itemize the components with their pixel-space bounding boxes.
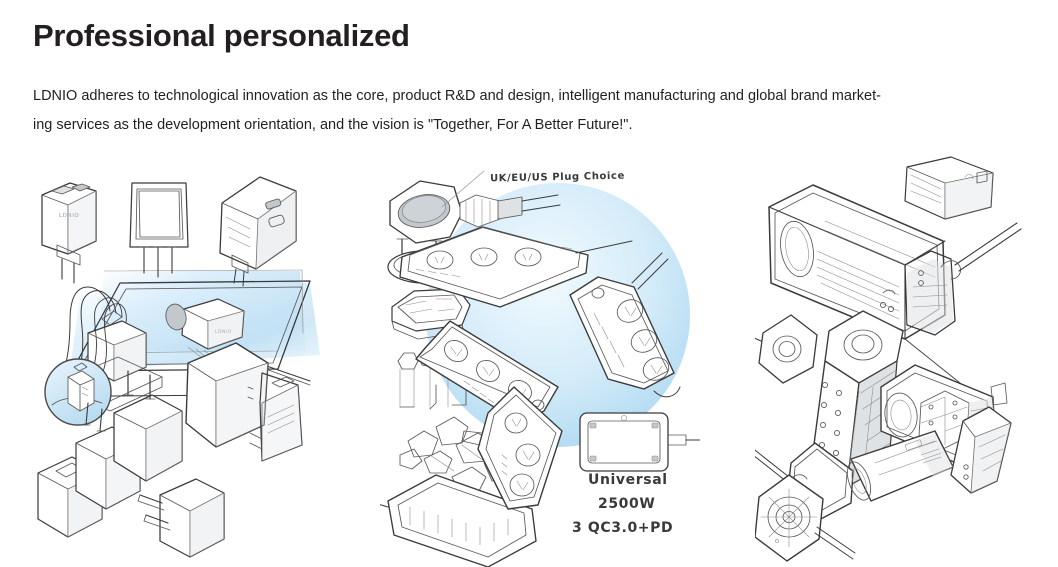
rounded-square-puck-left <box>755 315 817 383</box>
flat-panel-bottom-right <box>580 413 700 471</box>
brand-logo-text: LDNIO <box>59 213 79 219</box>
annotation-ports: 3 QC3.0+PD <box>572 520 673 536</box>
charger-angled-top-right <box>220 177 296 286</box>
wall-charger-concept-sketches: LDNIO <box>10 155 360 567</box>
intro-paragraph-line-2: ing services as the development orientat… <box>33 111 1033 140</box>
page-root: Professional personalized LDNIO adheres … <box>0 0 1058 567</box>
header: Professional personalized LDNIO adheres … <box>33 18 1033 140</box>
annotation-universal: Universal <box>588 472 668 488</box>
page-title: Professional personalized <box>33 18 1033 54</box>
sketch-board: LDNIO <box>0 155 1058 567</box>
charger-us-bottom-middle <box>138 479 224 557</box>
intro-paragraph-line-1: LDNIO adheres to technological innovatio… <box>33 82 1033 111</box>
svg-text:LDNIO: LDNIO <box>215 329 232 335</box>
tower-sketch-svg <box>755 155 1058 567</box>
charger-sketch-svg: LDNIO <box>10 155 360 567</box>
tower-socket-concept-sketches <box>755 155 1058 567</box>
annotation-wattage: 2500W <box>598 496 655 512</box>
charger-exploded-bottom-right <box>186 343 302 461</box>
charger-uk-top-middle <box>130 183 188 277</box>
charger-eu-top-left: LDNIO <box>42 183 96 283</box>
intro-paragraph: LDNIO adheres to technological innovatio… <box>33 82 1033 140</box>
small-box-top-right <box>905 157 993 219</box>
